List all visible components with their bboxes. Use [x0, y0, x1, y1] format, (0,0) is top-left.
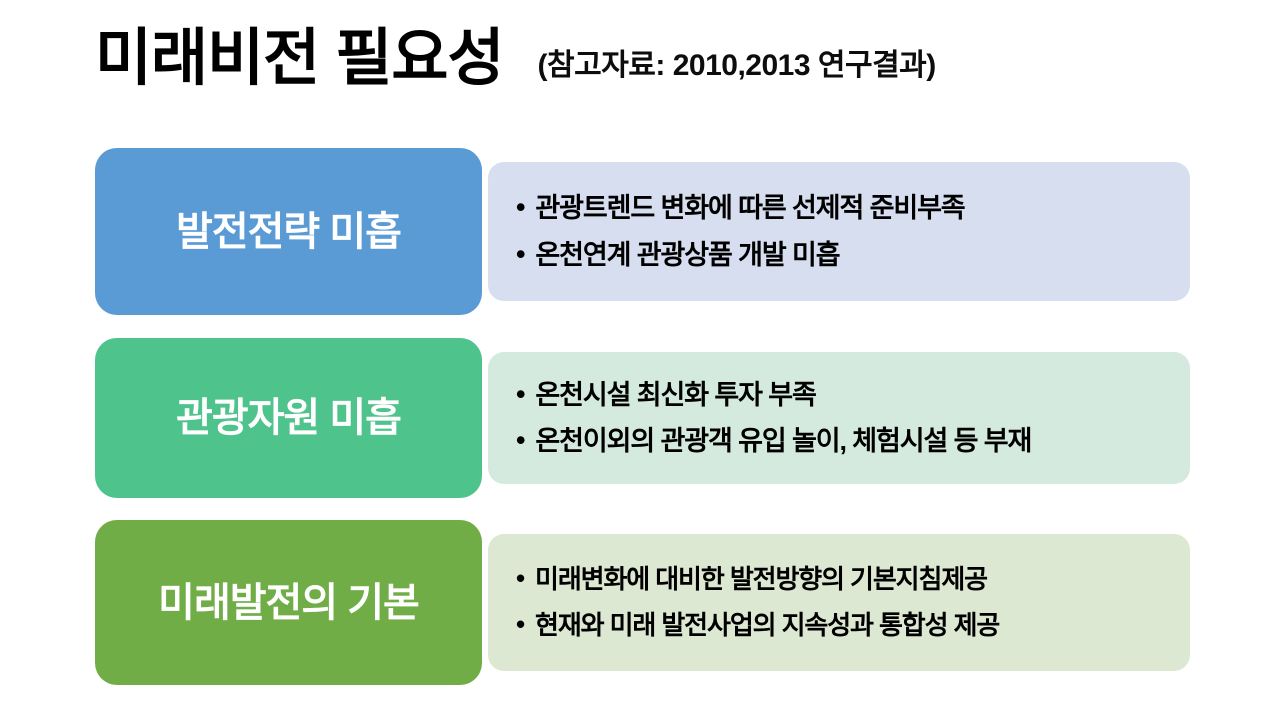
content-row-3: • 미래변화에 대비한 발전방향의 기본지침제공 • 현재와 미래 발전사업의 … [95, 520, 1190, 685]
bullet-text: 현재와 미래 발전사업의 지속성과 통합성 제공 [535, 610, 999, 641]
list-item: • 온천연계 관광상품 개발 미흡 [516, 239, 1172, 271]
bullet-panel-2: • 온천시설 최신화 투자 부족 • 온천이외의 관광객 유입 놀이, 체험시설… [488, 352, 1190, 484]
bullet-text: 온천이외의 관광객 유입 놀이, 체험시설 등 부재 [535, 425, 1031, 457]
slide-canvas: 미래비전 필요성 (참고자료: 2010,2013 연구결과) • 관광트렌드 … [0, 0, 1280, 720]
list-item: • 관광트렌드 변화에 따른 선제적 준비부족 [516, 192, 1172, 224]
bullet-dot-icon: • [516, 563, 524, 594]
content-row-2: • 온천시설 최신화 투자 부족 • 온천이외의 관광객 유입 놀이, 체험시설… [95, 338, 1190, 498]
page-title: 미래비전 필요성 [95, 28, 504, 90]
page-subtitle: (참고자료: 2010,2013 연구결과) [538, 51, 936, 81]
bullet-text: 온천시설 최신화 투자 부족 [535, 379, 815, 411]
category-label-3: 미래발전의 기본 [95, 520, 482, 685]
content-row-1: • 관광트렌드 변화에 따른 선제적 준비부족 • 온천연계 관광상품 개발 미… [95, 148, 1190, 315]
list-item: • 온천이외의 관광객 유입 놀이, 체험시설 등 부재 [516, 425, 1172, 457]
list-item: • 온천시설 최신화 투자 부족 [516, 379, 1172, 411]
category-label-text: 관광자원 미흡 [176, 396, 401, 440]
bullet-text: 관광트렌드 변화에 따른 선제적 준비부족 [535, 192, 964, 224]
bullet-dot-icon: • [516, 238, 524, 270]
bullet-dot-icon: • [516, 191, 524, 223]
list-item: • 현재와 미래 발전사업의 지속성과 통합성 제공 [516, 610, 1172, 641]
category-label-text: 발전전략 미흡 [176, 210, 401, 254]
bullet-panel-1: • 관광트렌드 변화에 따른 선제적 준비부족 • 온천연계 관광상품 개발 미… [488, 162, 1190, 301]
category-label-text: 미래발전의 기본 [158, 581, 419, 625]
category-label-2: 관광자원 미흡 [95, 338, 482, 498]
bullet-dot-icon: • [516, 609, 524, 640]
bullet-dot-icon: • [516, 424, 524, 456]
bullet-text: 미래변화에 대비한 발전방향의 기본지침제공 [535, 564, 987, 595]
title-block: 미래비전 필요성 (참고자료: 2010,2013 연구결과) [95, 28, 1195, 123]
bullet-dot-icon: • [516, 378, 524, 410]
bullet-text: 온천연계 관광상품 개발 미흡 [535, 239, 839, 271]
bullet-panel-3: • 미래변화에 대비한 발전방향의 기본지침제공 • 현재와 미래 발전사업의 … [488, 534, 1190, 671]
category-label-1: 발전전략 미흡 [95, 148, 482, 315]
list-item: • 미래변화에 대비한 발전방향의 기본지침제공 [516, 564, 1172, 595]
